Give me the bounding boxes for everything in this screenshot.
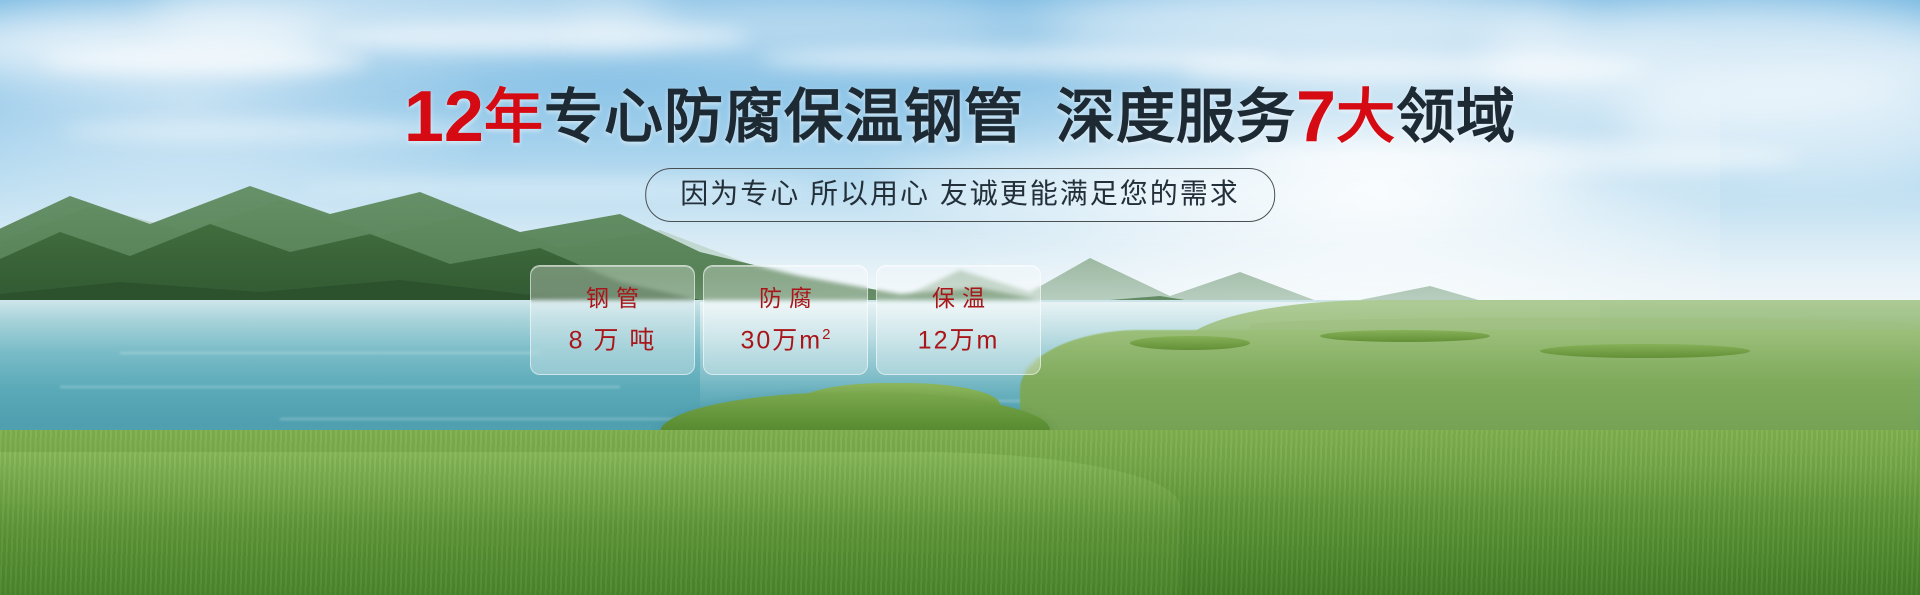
stat-card-value: 30万m2 xyxy=(741,321,831,354)
stat-card-value-text: 12万m xyxy=(918,327,1000,355)
stat-card-list: 钢管 8 万 吨 防腐 30万m2 保温 12万m xyxy=(530,265,1041,375)
page-title: 12年专心防腐保温钢管深度服务7大领域 xyxy=(0,82,1920,152)
stat-card-value-text: 30万m xyxy=(741,327,823,355)
water-ripple xyxy=(60,386,620,388)
small-islet xyxy=(1540,344,1750,358)
stat-card-steel-pipe[interactable]: 钢管 8 万 吨 xyxy=(530,265,695,375)
headline-accent-suffix: 大 xyxy=(1336,84,1396,150)
stat-card-title: 防腐 xyxy=(752,285,819,311)
stat-card-value-sup: 2 xyxy=(822,326,830,343)
stat-card-value: 8 万 吨 xyxy=(569,321,657,354)
stat-card-title: 保温 xyxy=(925,285,992,311)
small-islet xyxy=(1130,336,1250,350)
hero-banner: 12年专心防腐保温钢管深度服务7大领域 因为专心 所以用心 友诚更能满足您的需求… xyxy=(0,0,1920,595)
grass-texture-overlay xyxy=(0,430,1920,595)
stat-card-title: 钢管 xyxy=(579,285,646,311)
stat-card-insulation[interactable]: 保温 12万m xyxy=(876,265,1041,375)
headline-years-suffix: 年 xyxy=(484,84,544,150)
headline-years-number: 12 xyxy=(404,77,484,157)
stat-card-anticorrosion[interactable]: 防腐 30万m2 xyxy=(703,265,868,375)
stat-card-value: 12万m xyxy=(918,321,1000,354)
headline-segment-three: 领域 xyxy=(1396,84,1516,150)
headline-segment-one: 专心防腐保温钢管 xyxy=(544,84,1024,150)
water-ripple xyxy=(120,352,540,354)
stat-card-value-text: 8 万 吨 xyxy=(569,327,657,355)
headline-accent-number: 7 xyxy=(1296,77,1336,157)
small-islet xyxy=(1320,330,1490,342)
subtitle-pill: 因为专心 所以用心 友诚更能满足您的需求 xyxy=(645,168,1275,222)
headline-segment-two: 深度服务 xyxy=(1056,84,1296,150)
